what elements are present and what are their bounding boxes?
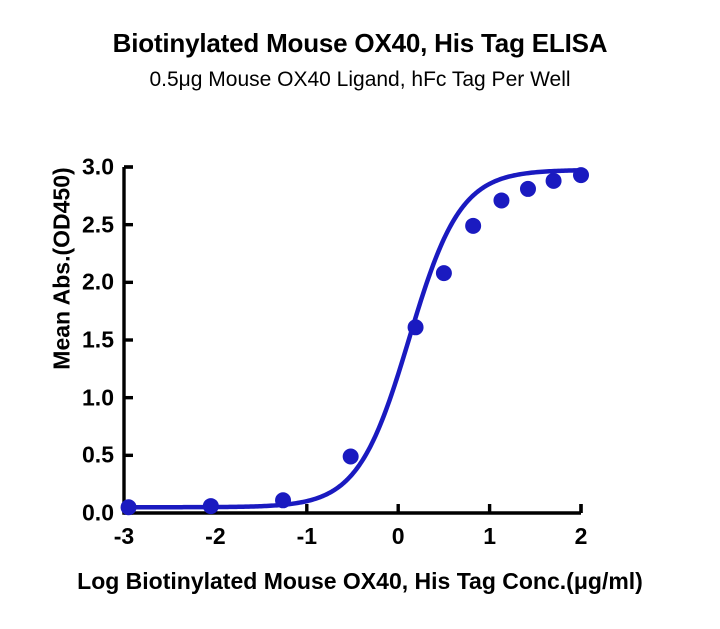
data-point: [546, 173, 561, 188]
data-point: [343, 449, 358, 464]
data-point-group: [121, 168, 588, 515]
chart-page: Biotinylated Mouse OX40, His Tag ELISA 0…: [0, 0, 720, 629]
data-point: [520, 181, 535, 196]
data-point: [408, 320, 423, 335]
data-point: [466, 218, 481, 233]
data-point: [121, 500, 136, 515]
data-point: [203, 499, 218, 514]
data-point: [436, 266, 451, 281]
data-point: [494, 193, 509, 208]
plot-area: [0, 0, 720, 629]
data-point: [574, 168, 589, 183]
data-point: [276, 493, 291, 508]
